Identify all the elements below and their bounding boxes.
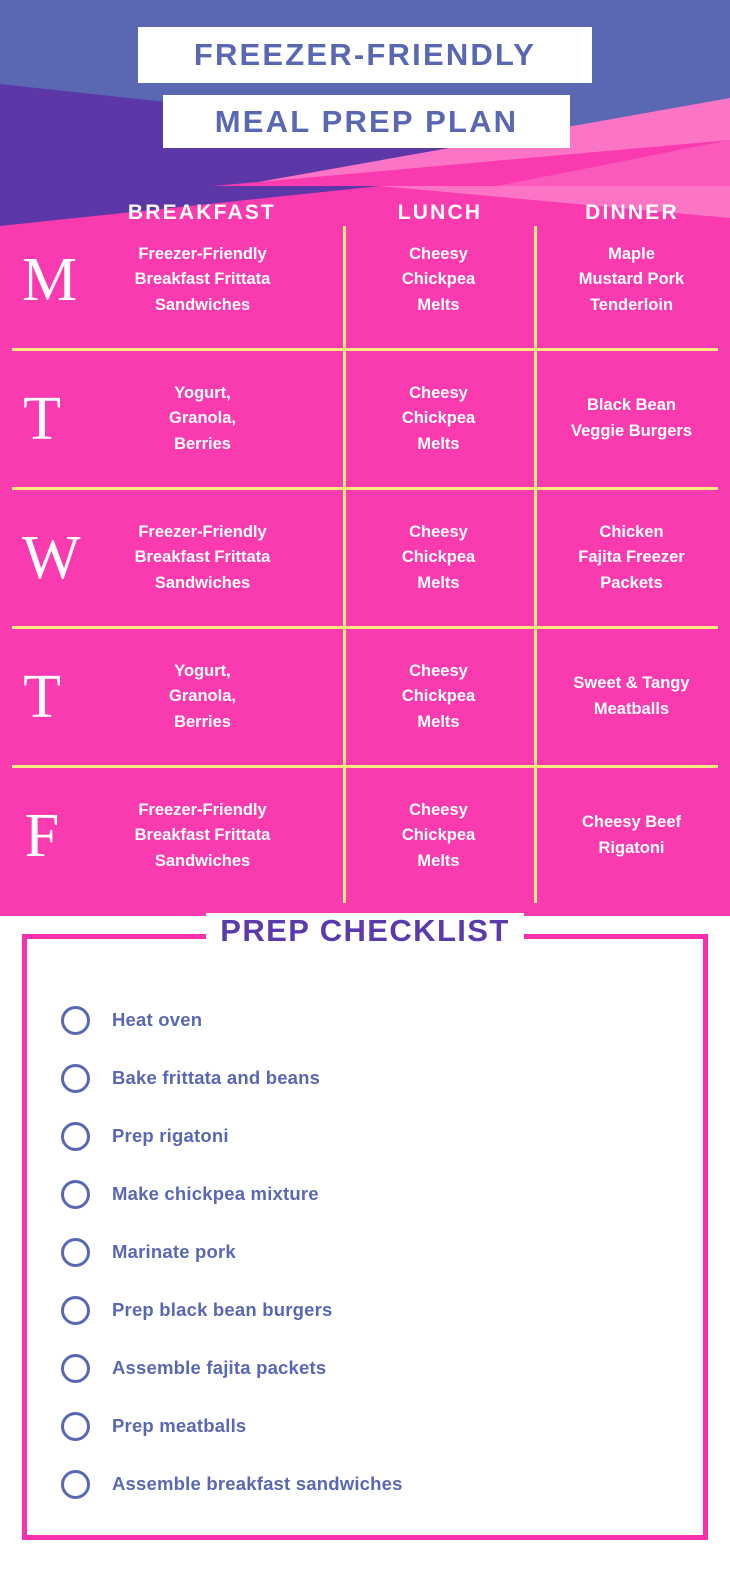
header-banner: FREEZER-FRIENDLY MEAL PREP PLAN: [0, 0, 730, 228]
checkbox-circle-icon[interactable]: [61, 1238, 90, 1267]
checkbox-circle-icon[interactable]: [61, 1412, 90, 1441]
checklist-title: PREP CHECKLIST: [27, 913, 703, 949]
checklist-item-label: Assemble breakfast sandwiches: [112, 1473, 403, 1495]
day-letter: M: [0, 249, 62, 311]
checkbox-circle-icon[interactable]: [61, 1180, 90, 1209]
checklist-item-label: Make chickpea mixture: [112, 1183, 319, 1205]
day-letter: T: [0, 388, 62, 450]
prep-checklist-panel: PREP CHECKLIST Heat oven Bake frittata a…: [22, 934, 708, 1540]
header-title-stack: FREEZER-FRIENDLY MEAL PREP PLAN: [0, 0, 730, 228]
table-row: T Yogurt, Granola, Berries Cheesy Chickp…: [0, 629, 730, 765]
checkbox-circle-icon[interactable]: [61, 1470, 90, 1499]
checklist-title-text: PREP CHECKLIST: [206, 913, 523, 948]
cell-dinner: Sweet & Tangy Meatballs: [534, 671, 729, 722]
checkbox-circle-icon[interactable]: [61, 1296, 90, 1325]
table-row: T Yogurt, Granola, Berries Cheesy Chickp…: [0, 351, 730, 487]
checklist-item-label: Bake frittata and beans: [112, 1067, 320, 1089]
cell-dinner: Chicken Fajita Freezer Packets: [534, 520, 729, 597]
table-row: M Freezer-Friendly Breakfast Frittata Sa…: [0, 212, 730, 348]
day-letter: W: [0, 527, 62, 589]
cell-lunch: Cheesy Chickpea Melts: [343, 242, 534, 319]
checkbox-circle-icon[interactable]: [61, 1354, 90, 1383]
day-letter: F: [0, 805, 62, 867]
title-line-1: FREEZER-FRIENDLY: [138, 27, 592, 83]
checklist-item-label: Prep rigatoni: [112, 1125, 229, 1147]
checklist-item-label: Marinate pork: [112, 1241, 236, 1263]
checkbox-circle-icon[interactable]: [61, 1064, 90, 1093]
table-row: W Freezer-Friendly Breakfast Frittata Sa…: [0, 490, 730, 626]
cell-breakfast: Freezer-Friendly Breakfast Frittata Sand…: [62, 242, 343, 319]
list-item[interactable]: Prep rigatoni: [61, 1107, 693, 1165]
checklist-item-label: Prep black bean burgers: [112, 1299, 333, 1321]
list-item[interactable]: Assemble fajita packets: [61, 1339, 693, 1397]
checkbox-circle-icon[interactable]: [61, 1122, 90, 1151]
day-letter: T: [0, 666, 62, 728]
cell-breakfast: Freezer-Friendly Breakfast Frittata Sand…: [62, 798, 343, 875]
list-item[interactable]: Prep black bean burgers: [61, 1281, 693, 1339]
cell-breakfast: Yogurt, Granola, Berries: [62, 381, 343, 458]
cell-dinner: Maple Mustard Pork Tenderloin: [534, 242, 729, 319]
cell-dinner: Black Bean Veggie Burgers: [534, 393, 729, 444]
cell-lunch: Cheesy Chickpea Melts: [343, 659, 534, 736]
meal-plan-table: BREAKFAST LUNCH DINNER M Freezer-Friendl…: [0, 186, 730, 916]
cell-breakfast: Yogurt, Granola, Berries: [62, 659, 343, 736]
cell-lunch: Cheesy Chickpea Melts: [343, 381, 534, 458]
cell-breakfast: Freezer-Friendly Breakfast Frittata Sand…: [62, 520, 343, 597]
list-item[interactable]: Make chickpea mixture: [61, 1165, 693, 1223]
cell-lunch: Cheesy Chickpea Melts: [343, 798, 534, 875]
table-row: F Freezer-Friendly Breakfast Frittata Sa…: [0, 768, 730, 904]
list-item[interactable]: Assemble breakfast sandwiches: [61, 1455, 693, 1513]
cell-lunch: Cheesy Chickpea Melts: [343, 520, 534, 597]
list-item[interactable]: Bake frittata and beans: [61, 1049, 693, 1107]
list-item[interactable]: Heat oven: [61, 991, 693, 1049]
checklist-item-label: Heat oven: [112, 1009, 202, 1031]
cell-dinner: Cheesy Beef Rigatoni: [534, 810, 729, 861]
checklist-item-label: Prep meatballs: [112, 1415, 246, 1437]
checklist-item-label: Assemble fajita packets: [112, 1357, 326, 1379]
checklist-items: Heat oven Bake frittata and beans Prep r…: [61, 991, 693, 1513]
list-item[interactable]: Marinate pork: [61, 1223, 693, 1281]
checkbox-circle-icon[interactable]: [61, 1006, 90, 1035]
list-item[interactable]: Prep meatballs: [61, 1397, 693, 1455]
infographic-page: FREEZER-FRIENDLY MEAL PREP PLAN BREAKFAS…: [0, 0, 730, 1573]
table-grid: BREAKFAST LUNCH DINNER M Freezer-Friendl…: [0, 186, 730, 916]
title-line-2: MEAL PREP PLAN: [163, 95, 570, 148]
